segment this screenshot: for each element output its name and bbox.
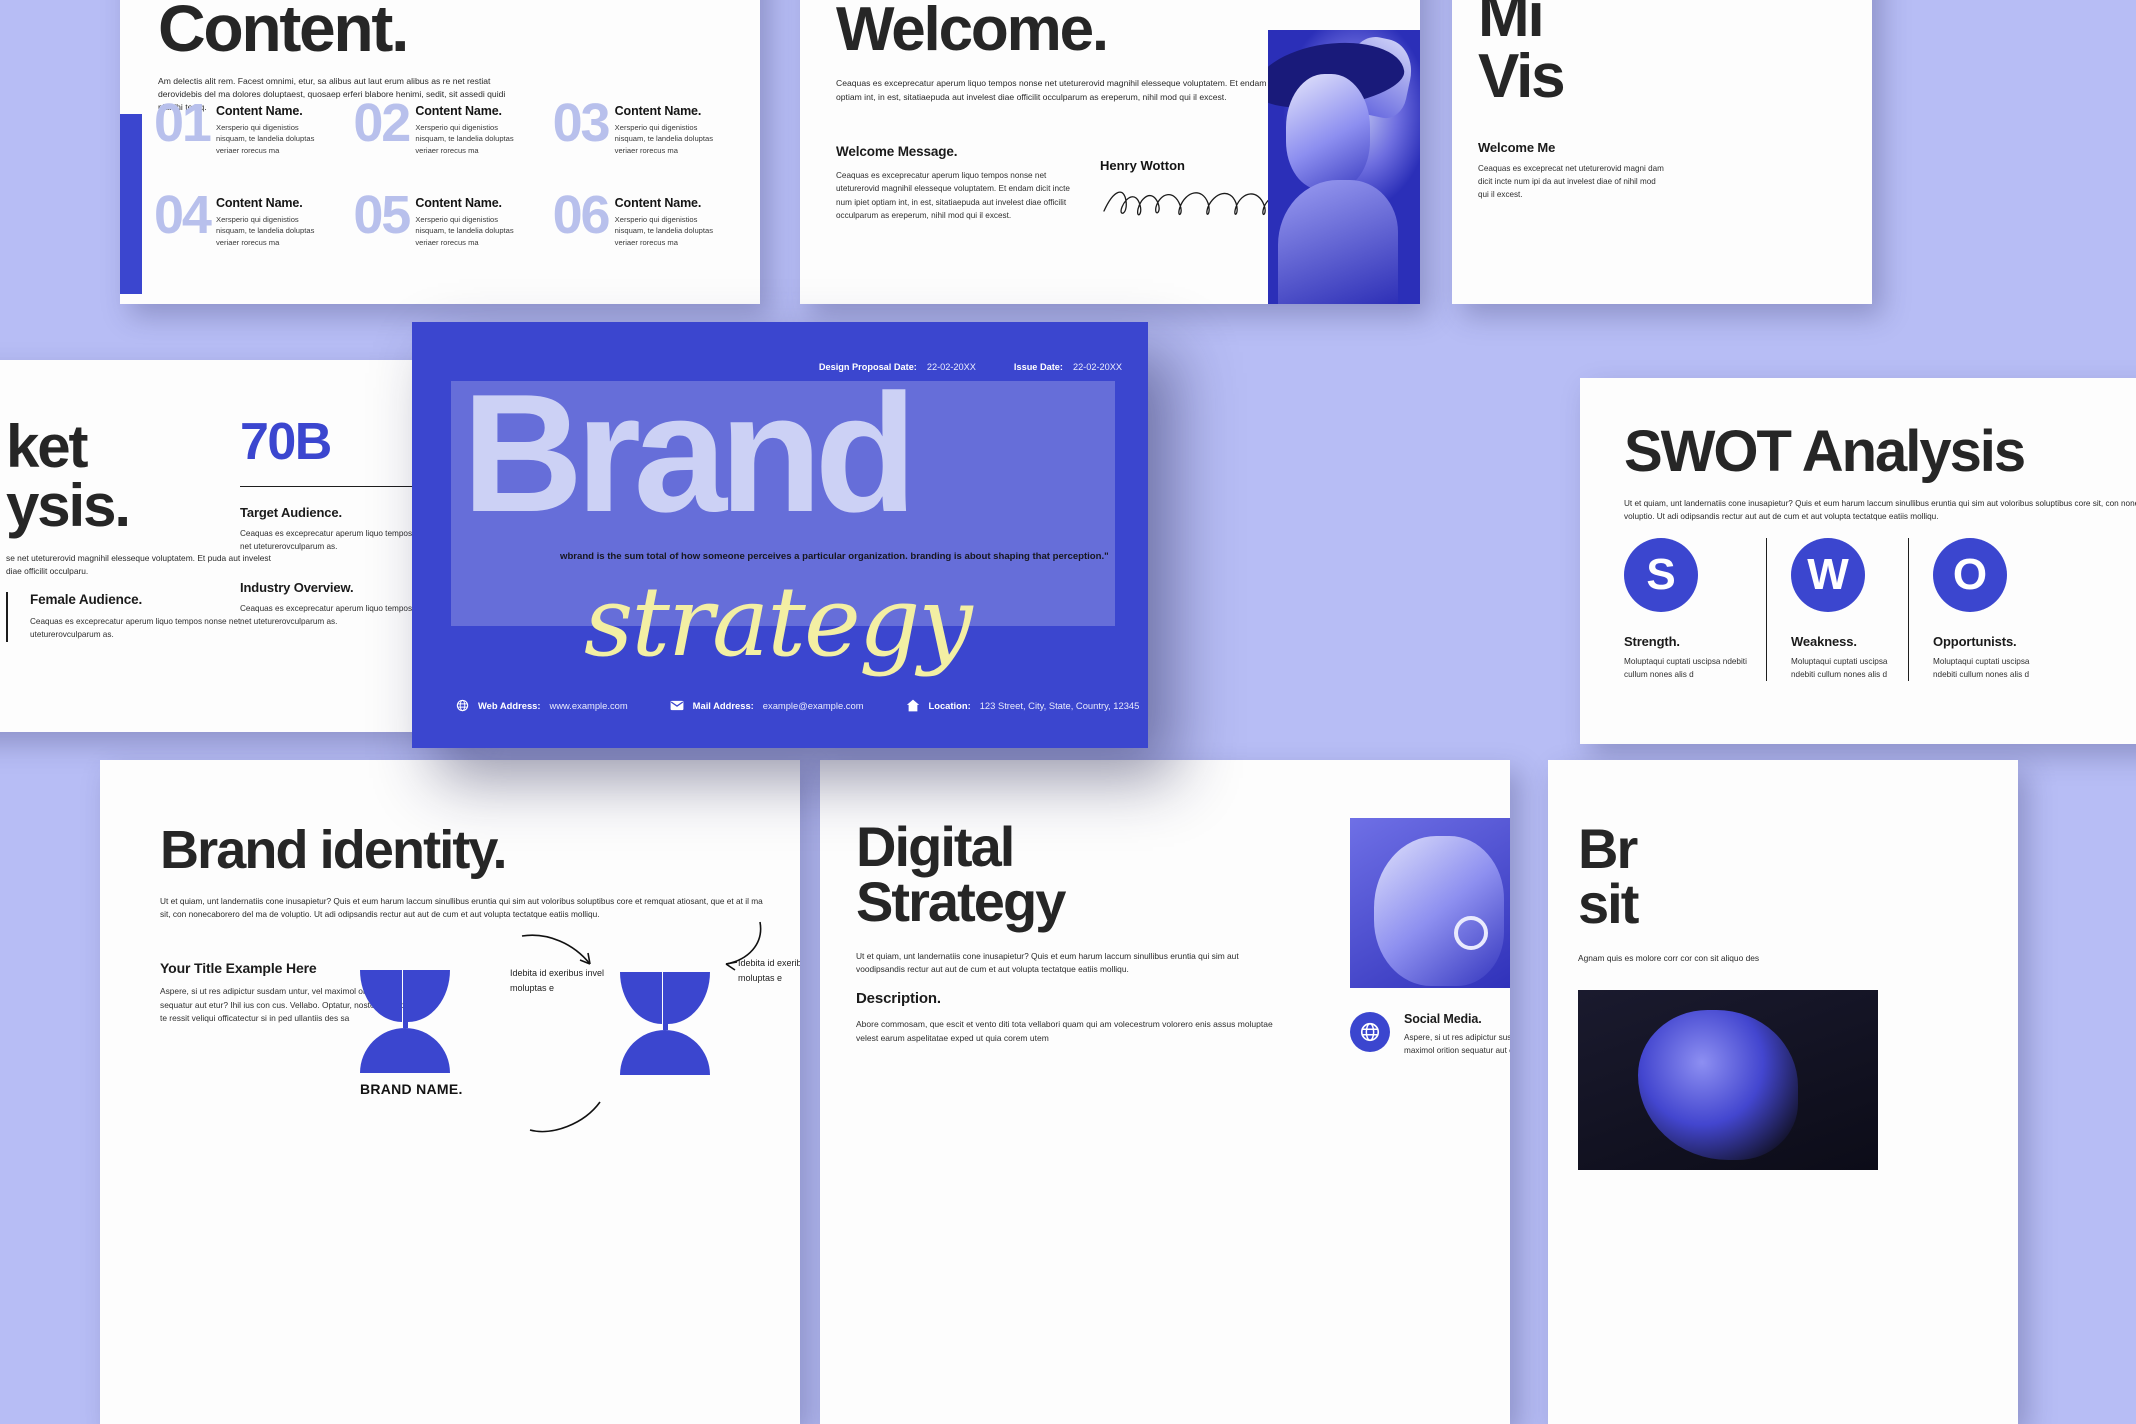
- page-title-line2: Vis: [1478, 47, 1563, 108]
- slide-brand-identity[interactable]: Brand identity. Ut et quiam, unt landern…: [100, 760, 800, 1424]
- website-preview-screen: [1578, 990, 1878, 1170]
- target-audience-heading: Target Audience.: [240, 505, 440, 520]
- cover-title-brand: Brand: [462, 380, 1148, 528]
- slide-brand-strategy-cover[interactable]: Design Proposal Date: 22-02-20XX Issue D…: [412, 322, 1148, 748]
- female-audience-body: Ceaquas es exceprecatur aperum liquo tem…: [30, 615, 256, 642]
- item-title: Content Name.: [216, 104, 343, 118]
- list-item[interactable]: 01 Content Name. Xersperio qui digenisti…: [158, 104, 343, 162]
- slide-market-analysis[interactable]: ket ysis. se net uteturerovid magnihil e…: [0, 360, 470, 732]
- page-title-line1: Br: [1578, 822, 1858, 877]
- brand-logo-secondary[interactable]: [620, 972, 710, 1075]
- arrow-curve-right-icon: [660, 916, 770, 974]
- description-body: Abore commosam, que escit et vento diti …: [856, 1017, 1276, 1045]
- description-heading: Description.: [856, 990, 1276, 1007]
- swot-columns: S Strength. Moluptaqui cuptati uscipsa n…: [1624, 538, 2136, 681]
- item-title: Content Name.: [415, 104, 542, 118]
- mail-icon: [670, 700, 684, 711]
- swot-heading: Strength.: [1624, 634, 1748, 649]
- swot-column-strength[interactable]: S Strength. Moluptaqui cuptati uscipsa n…: [1624, 538, 1766, 681]
- page-title-line1: Mi: [1478, 0, 1563, 47]
- item-text: Xersperio qui digenistios nisquam, te la…: [615, 214, 727, 248]
- page-title: SWOT Analysis: [1624, 424, 2136, 481]
- industry-overview-body: Ceaquas es exceprecatur aperum liquo tem…: [240, 602, 440, 629]
- description-block: Description. Abore commosam, que escit e…: [856, 990, 1276, 1045]
- welcome-message-body: Ceaquas es exceprecatur aperum liquo tem…: [836, 169, 1076, 222]
- website-hero-visual: [1638, 1010, 1798, 1160]
- swot-body: Moluptaqui cuptati uscipsa ndebiti cullu…: [1933, 655, 2032, 681]
- arrow-curve-left-icon: [518, 930, 618, 976]
- photo-woman-profile: [1350, 818, 1510, 988]
- cover-quote: wbrand is the sum total of how someone p…: [560, 551, 1120, 562]
- cover-contact-row: Web Address: www.example.com Mail Addres…: [456, 699, 1118, 712]
- digital-lead: Ut et quiam, unt landernatiis cone inusa…: [856, 950, 1276, 977]
- page-title-line2: sit: [1578, 877, 1858, 932]
- globe-icon: [456, 699, 469, 712]
- presentation-mockup-canvas: Content. Am delectis alit rem. Facest om…: [0, 0, 2136, 1424]
- page-title: Content.: [158, 0, 734, 61]
- slide-content[interactable]: Content. Am delectis alit rem. Facest om…: [120, 0, 760, 304]
- item-title: Content Name.: [216, 196, 343, 210]
- slide-brand-website[interactable]: Br sit Agnam quis es molore corr cor con…: [1548, 760, 2018, 1424]
- cover-title-strategy: strategy: [584, 574, 971, 670]
- list-item[interactable]: 04 Content Name. Xersperio qui digenisti…: [158, 196, 343, 254]
- social-media-block[interactable]: Social Media. Aspere, si ut res adipictu…: [1350, 1012, 1510, 1057]
- item-title: Content Name.: [615, 104, 742, 118]
- swot-badge-o: O: [1933, 538, 2007, 612]
- list-item[interactable]: 03 Content Name. Xersperio qui digenisti…: [557, 104, 742, 162]
- globe-icon: [1350, 1012, 1390, 1052]
- logo-dome-icon: [620, 1030, 710, 1075]
- target-audience-body: Ceaquas es exceprecatur aperum liquo tem…: [240, 527, 440, 554]
- photo-face: [1286, 74, 1370, 190]
- item-title: Content Name.: [415, 196, 542, 210]
- hero-photo-woman-hat: [1268, 30, 1420, 304]
- item-number: 01: [154, 92, 210, 154]
- contact-web[interactable]: Web Address: www.example.com: [456, 699, 628, 712]
- item-text: Xersperio qui digenistios nisquam, te la…: [415, 214, 527, 248]
- mv-message-heading: Welcome Me: [1478, 140, 1668, 155]
- swot-column-opportunists[interactable]: O Opportunists. Moluptaqui cuptati uscip…: [1908, 538, 2050, 681]
- page-title-line2: ysis.: [6, 477, 274, 536]
- item-number: 02: [353, 92, 409, 154]
- page-title: Brand identity.: [160, 824, 770, 877]
- swot-badge-s: S: [1624, 538, 1698, 612]
- item-number: 04: [154, 184, 210, 246]
- brand-logo-primary[interactable]: BRAND NAME.: [360, 970, 463, 1097]
- female-audience-block: Female Audience. Ceaquas es exceprecatur…: [6, 592, 256, 642]
- swot-heading: Opportunists.: [1933, 634, 2032, 649]
- social-body: Aspere, si ut res adipictur susdam untur…: [1404, 1031, 1510, 1057]
- welcome-message-heading: Welcome Message.: [836, 144, 1076, 159]
- industry-overview-heading: Industry Overview.: [240, 580, 440, 595]
- item-text: Xersperio qui digenistios nisquam, te la…: [615, 122, 727, 156]
- contact-mail[interactable]: Mail Address: example@example.com: [670, 700, 864, 711]
- site-lead: Agnam quis es molore corr cor con sit al…: [1578, 952, 1858, 966]
- target-audience-block: Target Audience. Ceaquas es exceprecatur…: [240, 505, 440, 554]
- accent-bar: [120, 114, 142, 294]
- logo-wings-icon: [620, 972, 710, 1024]
- content-items-grid: 01 Content Name. Xersperio qui digenisti…: [158, 104, 742, 254]
- item-title: Content Name.: [615, 196, 742, 210]
- item-text: Xersperio qui digenistios nisquam, te la…: [216, 122, 328, 156]
- item-text: Xersperio qui digenistios nisquam, te la…: [415, 122, 527, 156]
- divider: [240, 486, 440, 487]
- arrow-curve-bottom-icon: [526, 1090, 626, 1136]
- slide-swot-analysis[interactable]: SWOT Analysis Ut et quiam, unt landernat…: [1580, 378, 2136, 744]
- slide-digital-strategy[interactable]: Digital Strategy Ut et quiam, unt lander…: [820, 760, 1510, 1424]
- swot-heading: Weakness.: [1791, 634, 1890, 649]
- item-number: 06: [553, 184, 609, 246]
- swot-badge-w: W: [1791, 538, 1865, 612]
- photo-profile-shape: [1374, 836, 1504, 986]
- market-lead: se net uteturerovid magnihil elesseque v…: [6, 552, 274, 579]
- list-item[interactable]: 05 Content Name. Xersperio qui digenisti…: [357, 196, 542, 254]
- item-number: 03: [553, 92, 609, 154]
- social-heading: Social Media.: [1404, 1012, 1510, 1026]
- photo-shoulder: [1278, 180, 1398, 304]
- item-text: Xersperio qui digenistios nisquam, te la…: [216, 214, 328, 248]
- page-title-line1: ket: [6, 418, 274, 477]
- issue-date: Issue Date: 22-02-20XX: [1014, 362, 1122, 372]
- swot-lead: Ut et quiam, unt landernatiis cone inusa…: [1624, 497, 2136, 523]
- home-icon: [906, 699, 920, 712]
- swot-column-weakness[interactable]: W Weakness. Moluptaqui cuptati uscipsa n…: [1766, 538, 1908, 681]
- market-big-number: 70B: [240, 412, 440, 472]
- swot-body: Moluptaqui cuptati uscipsa ndebiti cullu…: [1791, 655, 1890, 681]
- swot-body: Moluptaqui cuptati uscipsa ndebiti cullu…: [1624, 655, 1748, 681]
- list-item[interactable]: 02 Content Name. Xersperio qui digenisti…: [357, 104, 542, 162]
- logo-dome-icon: [360, 1028, 450, 1073]
- contact-location[interactable]: Location: 123 Street, City, State, Count…: [906, 699, 1140, 712]
- industry-overview-block: Industry Overview. Ceaquas es exceprecat…: [240, 580, 440, 629]
- photo-earring: [1454, 916, 1488, 950]
- item-number: 05: [353, 184, 409, 246]
- logo-wings-icon: [360, 970, 450, 1022]
- brand-name-label: BRAND NAME.: [360, 1081, 463, 1097]
- mv-message-body: Ceaquas es exceprecat net uteturerovid m…: [1478, 163, 1668, 202]
- slide-mission-vision[interactable]: Mi Vis Welcome Me Ceaquas es exceprecat …: [1452, 0, 1872, 304]
- female-audience-heading: Female Audience.: [30, 592, 256, 607]
- list-item[interactable]: 06 Content Name. Xersperio qui digenisti…: [557, 196, 742, 254]
